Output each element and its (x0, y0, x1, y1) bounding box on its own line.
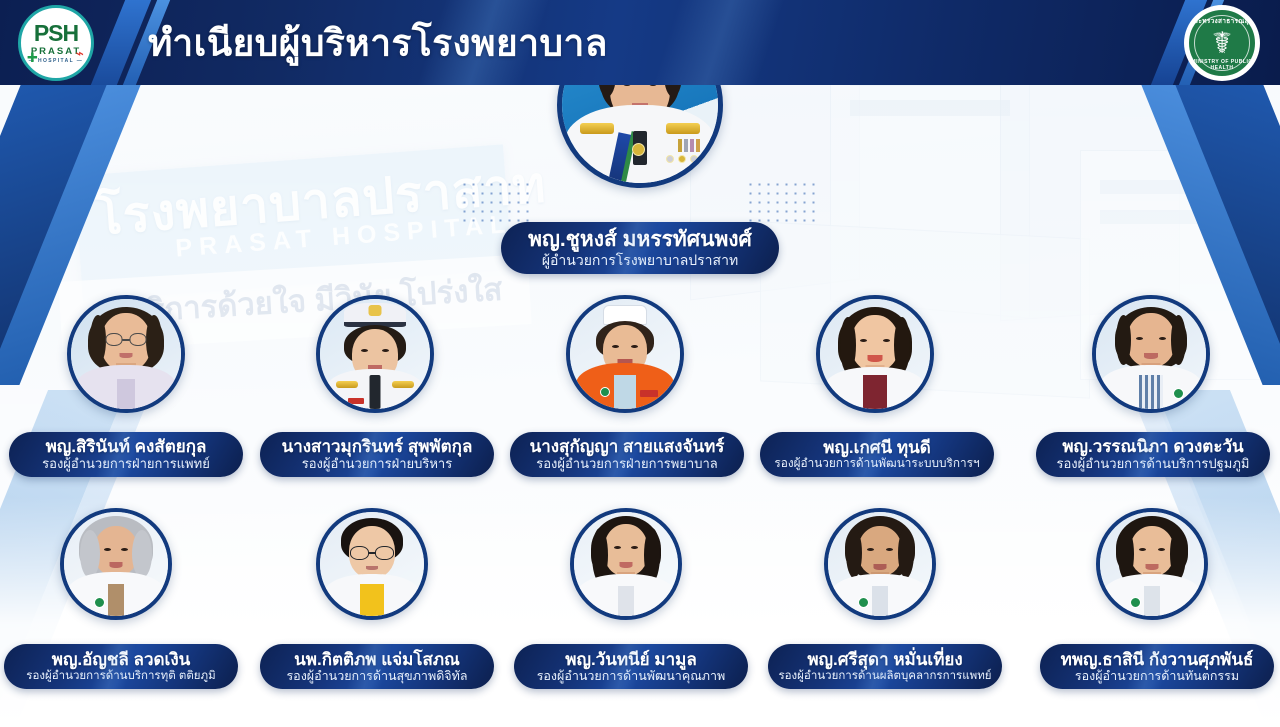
name-plate[interactable]: นพ.กิตติภพ แจ่มโสภณ รองผู้อำนวยการด้านสุ… (260, 644, 494, 689)
person-role: รองผู้อำนวยการด้านผลิตบุคลากรการแพทย์ (778, 670, 991, 683)
poster-header: PSH PRASAT — HOSPITAL — ✚ ⌁ ทำเนียบผู้บร… (0, 0, 1280, 85)
avatar (67, 295, 185, 413)
psh-logo-sub-text: PRASAT (31, 46, 81, 57)
name-plate[interactable]: พญ.สิรินันท์ คงสัตยกุล รองผู้อำนวยการฝ่า… (9, 432, 243, 477)
name-plate[interactable]: นางสาวมุกรินทร์ สุพพัตกุล รองผู้อำนวยการ… (260, 432, 494, 477)
name-plate[interactable]: พญ.ชูหงส์ มหรรทัศนพงศ์ ผู้อำนวยการโรงพยา… (501, 222, 779, 274)
name-plate[interactable]: ทพญ.ธาสินี กังวานศุภพันธ์ รองผู้อำนวยการ… (1040, 644, 1274, 689)
person-role: รองผู้อำนวยการด้านบริการปฐมภูมิ (1057, 457, 1250, 472)
name-plate[interactable]: นางสุกัญญา สายแสงจันทร์ รองผู้อำนวยการฝ่… (510, 432, 744, 477)
person-name: นพ.กิตติภพ แจ่มโสภณ (294, 650, 460, 670)
person-role: รองผู้อำนวยการฝ่ายการแพทย์ (42, 457, 210, 472)
person-role: รองผู้อำนวยการด้านทันตกรรม (1075, 669, 1239, 683)
person-name: พญ.เกศนี ทุนดี (823, 438, 931, 458)
avatar (316, 295, 434, 413)
moph-logo-thai-text: กระทรวงสาธารณสุข (1189, 16, 1255, 26)
person-role: รองผู้อำนวยการฝ่ายบริหาร (302, 457, 452, 472)
person-name: พญ.วันทนีย์ มามูล (565, 650, 696, 670)
person-name: ทพญ.ธาสินี กังวานศุภพันธ์ (1061, 650, 1254, 670)
avatar (816, 295, 934, 413)
page-title: ทำเนียบผู้บริหารโรงพยาบาล (148, 13, 608, 72)
avatar (566, 295, 684, 413)
person-name: พญ.วรรณนิภา ดวงตะวัน (1062, 437, 1243, 457)
person-name: นางสาวมุกรินทร์ สุพพัตกุล (282, 437, 473, 457)
avatar (316, 508, 428, 620)
person-name: พญ.อัญชลี ลวดเงิน (52, 650, 191, 670)
person-name: พญ.ชูหงส์ มหรรทัศนพงศ์ (528, 228, 752, 252)
executives-grid: พญ.ชูหงส์ มหรรทัศนพงศ์ ผู้อำนวยการโรงพยา… (0, 0, 1280, 727)
name-plate[interactable]: พญ.อัญชลี ลวดเงิน รองผู้อำนวยการด้านบริก… (4, 644, 238, 689)
person-name: พญ.ศรีสุดา หมั่นเที่ยง (807, 650, 962, 670)
moph-logo-english-text: MINISTRY OF PUBLIC HEALTH (1189, 59, 1255, 71)
avatar (60, 508, 172, 620)
ministry-of-public-health-logo: กระทรวงสาธารณสุข ☤ MINISTRY OF PUBLIC HE… (1184, 5, 1260, 81)
person-name: นางสุกัญญา สายแสงจันทร์ (530, 437, 725, 457)
name-plate[interactable]: พญ.วันทนีย์ มามูล รองผู้อำนวยการด้านพัฒน… (514, 644, 748, 689)
admin-roster-poster: โรงพยาบาลปราสาท PRASAT HOSPITAL บริการด้… (0, 0, 1280, 727)
caduceus-icon: ☤ (1212, 29, 1232, 59)
person-role: ผู้อำนวยการโรงพยาบาลปราสาท (542, 252, 738, 268)
avatar (1096, 508, 1208, 620)
psh-logo: PSH PRASAT — HOSPITAL — ✚ ⌁ (18, 5, 94, 81)
avatar (1092, 295, 1210, 413)
person-role: รองผู้อำนวยการฝ่ายการพยาบาล (536, 457, 718, 472)
person-role: รองผู้อำนวยการด้านพัฒนาคุณภาพ (537, 669, 726, 683)
avatar (824, 508, 936, 620)
psh-logo-main-text: PSH (34, 22, 78, 45)
name-plate[interactable]: พญ.วรรณนิภา ดวงตะวัน รองผู้อำนวยการด้านบ… (1036, 432, 1270, 477)
green-cross-icon: ✚ (27, 50, 38, 66)
heartbeat-pulse-icon: ⌁ (76, 46, 84, 60)
name-plate[interactable]: พญ.ศรีสุดา หมั่นเที่ยง รองผู้อำนวยการด้า… (768, 644, 1002, 689)
avatar (570, 508, 682, 620)
person-role: รองผู้อำนวยการด้านพัฒนาระบบบริการฯ (774, 457, 979, 471)
person-role: รองผู้อำนวยการด้านบริการทุติ ตติยภูมิ (26, 670, 215, 683)
person-role: รองผู้อำนวยการด้านสุขภาพดิจิทัล (286, 669, 467, 683)
name-plate[interactable]: พญ.เกศนี ทุนดี รองผู้อำนวยการด้านพัฒนาระ… (760, 432, 994, 477)
person-name: พญ.สิรินันท์ คงสัตยกุล (46, 437, 207, 457)
